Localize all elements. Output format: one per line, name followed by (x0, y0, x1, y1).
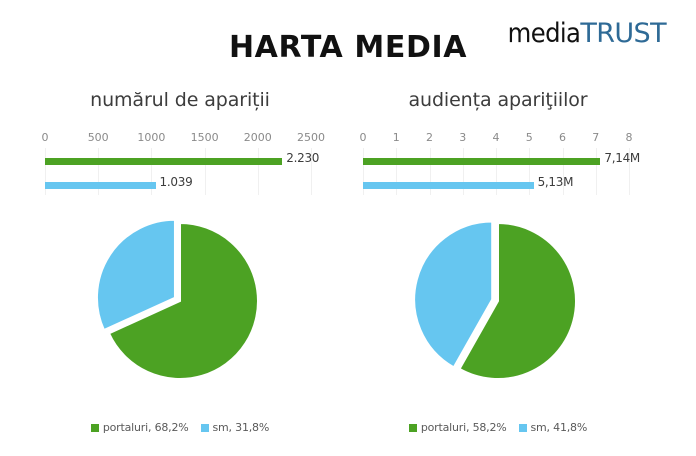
axis-tick-label: 7 (592, 131, 599, 144)
axis-tick-label: 2500 (297, 131, 325, 144)
x-axis: 012345678 (348, 131, 648, 147)
legend-label: sm, 41,8% (531, 421, 588, 434)
panel-audienta-aparitiilor: audiența apariţiilor 0123456787,14M5,13M… (348, 86, 648, 446)
axis-tick-label: 2000 (244, 131, 272, 144)
axis-tick-label: 1 (393, 131, 400, 144)
page-title: HARTA MEDIA (0, 30, 696, 65)
axis-tick-label: 0 (360, 131, 367, 144)
legend-item[interactable]: sm, 31,8% (201, 421, 270, 434)
bar-row: 2.230 (30, 158, 330, 165)
legend-right: portaluri, 58,2%sm, 41,8% (348, 421, 648, 434)
legend-label: sm, 31,8% (213, 421, 270, 434)
bar-value-label: 2.230 (286, 151, 319, 165)
panel-title-right: audiența apariţiilor (348, 86, 648, 114)
bar-chart-left: 050010001500200025002.2301.039 (30, 131, 330, 201)
bar-portaluri (363, 158, 600, 165)
legend-item[interactable]: sm, 41,8% (519, 421, 588, 434)
axis-tick-label: 8 (626, 131, 633, 144)
legend-left: portaluri, 68,2%sm, 31,8% (30, 421, 330, 434)
panel-title-left: numărul de apariții (30, 86, 330, 114)
axis-tick-label: 2 (426, 131, 433, 144)
pie-chart-right (348, 213, 648, 388)
legend-label: portaluri, 58,2% (421, 421, 507, 434)
x-axis: 05001000150020002500 (30, 131, 330, 147)
legend-swatch-icon (409, 424, 417, 432)
axis-tick-label: 6 (559, 131, 566, 144)
pie-chart-left (30, 213, 330, 388)
axis-tick-label: 500 (88, 131, 109, 144)
bar-value-label: 5,13M (538, 175, 574, 189)
bar-sm (363, 182, 534, 189)
bar-sm (45, 182, 156, 189)
bar-row: 5,13M (348, 182, 648, 189)
pie-svg (411, 213, 586, 383)
axis-tick-label: 3 (459, 131, 466, 144)
axis-tick-label: 1000 (137, 131, 165, 144)
pie-svg (93, 213, 268, 383)
bar-portaluri (45, 158, 282, 165)
legend-label: portaluri, 68,2% (103, 421, 189, 434)
bar-value-label: 7,14M (604, 151, 640, 165)
legend-swatch-icon (201, 424, 209, 432)
axis-tick-label: 1500 (191, 131, 219, 144)
bar-chart-right: 0123456787,14M5,13M (348, 131, 648, 201)
bar-value-label: 1.039 (160, 175, 193, 189)
axis-tick-label: 5 (526, 131, 533, 144)
panel-numarul-de-aparitii: numărul de apariții 05001000150020002500… (30, 86, 330, 446)
legend-item[interactable]: portaluri, 58,2% (409, 421, 507, 434)
slide-canvas: mediaTRUST HARTA MEDIA numărul de apariț… (0, 0, 696, 456)
legend-item[interactable]: portaluri, 68,2% (91, 421, 189, 434)
bar-row: 7,14M (348, 158, 648, 165)
legend-swatch-icon (91, 424, 99, 432)
axis-tick-label: 0 (42, 131, 49, 144)
axis-tick-label: 4 (493, 131, 500, 144)
legend-swatch-icon (519, 424, 527, 432)
bar-row: 1.039 (30, 182, 330, 189)
